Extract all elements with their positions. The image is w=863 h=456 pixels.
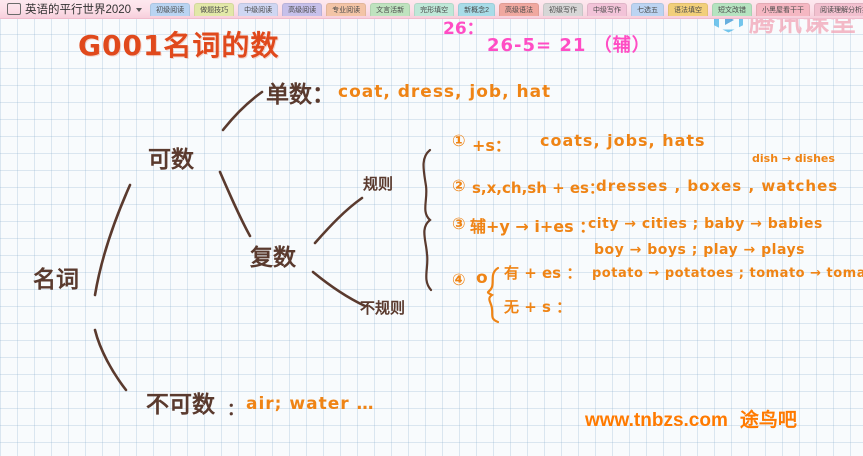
rule-4-cond-1: 有 + es ： [504, 262, 581, 283]
tab-yuedulijiefenxi[interactable]: 阅读理解分析技巧 [814, 3, 863, 16]
rule-2-side-note: dish → dishes [752, 152, 835, 165]
whiteboard-app: 英语的平行世界2020 初级阅读 做题技巧 中级阅读 高级阅读 专业阅读 文言活… [0, 0, 863, 456]
tab-qixuanwu[interactable]: 七选五 [631, 3, 664, 16]
rule-4-examples-1: potato → potatoes ; tomato → tomatoes [592, 266, 863, 281]
node-plural: 复数 [250, 238, 296, 272]
rule-2-marker: ② [452, 176, 466, 195]
tab-yufatiankong[interactable]: 语法填空 [668, 3, 708, 16]
node-uncountable: 不可数 [146, 385, 215, 419]
uncountable-examples: air; water … [246, 394, 375, 414]
rule-1-marker: ① [452, 131, 466, 150]
tab-zhuanyeyuedu[interactable]: 专业阅读 [326, 3, 366, 16]
tab-bar: 英语的平行世界2020 初级阅读 做题技巧 中级阅读 高级阅读 专业阅读 文言活… [0, 0, 863, 19]
rule-2-examples: dresses , boxes , watches [596, 177, 838, 195]
window-icon [7, 3, 21, 15]
rule-4-marker: ④ [452, 270, 466, 289]
rule-3-marker: ③ [452, 214, 466, 233]
tab-zhongjiyuedu[interactable]: 中级阅读 [238, 3, 278, 16]
rule-3-examples: city → cities ; baby → babies [588, 216, 823, 232]
label-irregular: 不规则 [360, 297, 405, 318]
rule-1-examples: coats, jobs, hats [540, 131, 706, 150]
uncountable-colon: ： [227, 395, 244, 420]
tab-xingainian2[interactable]: 新概念2 [458, 3, 495, 16]
tab-wenyanhuoxin[interactable]: 文言活新 [370, 3, 410, 16]
rule-3-examples-2: boy → boys ; play → plays [594, 242, 805, 258]
node-root-noun: 名词 [33, 260, 79, 294]
singular-examples: coat, dress, job, hat [338, 82, 551, 102]
site-watermark-url: www.tnbzs.com [585, 410, 728, 431]
top-note-line: 26-5= 21 （辅） [487, 31, 651, 57]
rule-2-rule: s,x,ch,sh + es： [472, 177, 604, 198]
tab-zhongjixiezuo[interactable]: 中级写作 [587, 3, 627, 16]
document-title: 英语的平行世界2020 [25, 1, 131, 17]
node-countable: 可数 [148, 140, 194, 174]
tab-chujiyuedu[interactable]: 初级阅读 [150, 3, 190, 16]
rule-4-rule: o [476, 268, 488, 288]
node-singular: 单数： [266, 75, 335, 109]
page-title: G001名词的数 [78, 24, 279, 64]
rule-3-rule: 辅+y → i+es ： [470, 213, 595, 237]
site-watermark-name: 途鸟吧 [740, 410, 797, 431]
rule-1-rule: +s： [472, 132, 511, 156]
tab-chujixiezuo[interactable]: 初级写作 [543, 3, 583, 16]
tab-duanwengaicuo[interactable]: 短文改错 [712, 3, 752, 16]
chevron-down-icon[interactable] [136, 8, 142, 12]
tab-wanxingtiankong[interactable]: 完形填空 [414, 3, 454, 16]
tab-xiaoheiwu[interactable]: 小黑屋看干干 [756, 3, 810, 16]
label-regular: 规则 [363, 173, 393, 194]
tab-zuotijiqiao[interactable]: 做题技巧 [194, 3, 234, 16]
tab-gaojiyuedu[interactable]: 高级阅读 [282, 3, 322, 16]
site-watermark: www.tnbzs.com途鸟吧 [585, 405, 797, 432]
tab-gaojiyufa[interactable]: 高级语法 [499, 3, 539, 16]
rule-4-cond-2: 无 + s ： [504, 296, 571, 317]
